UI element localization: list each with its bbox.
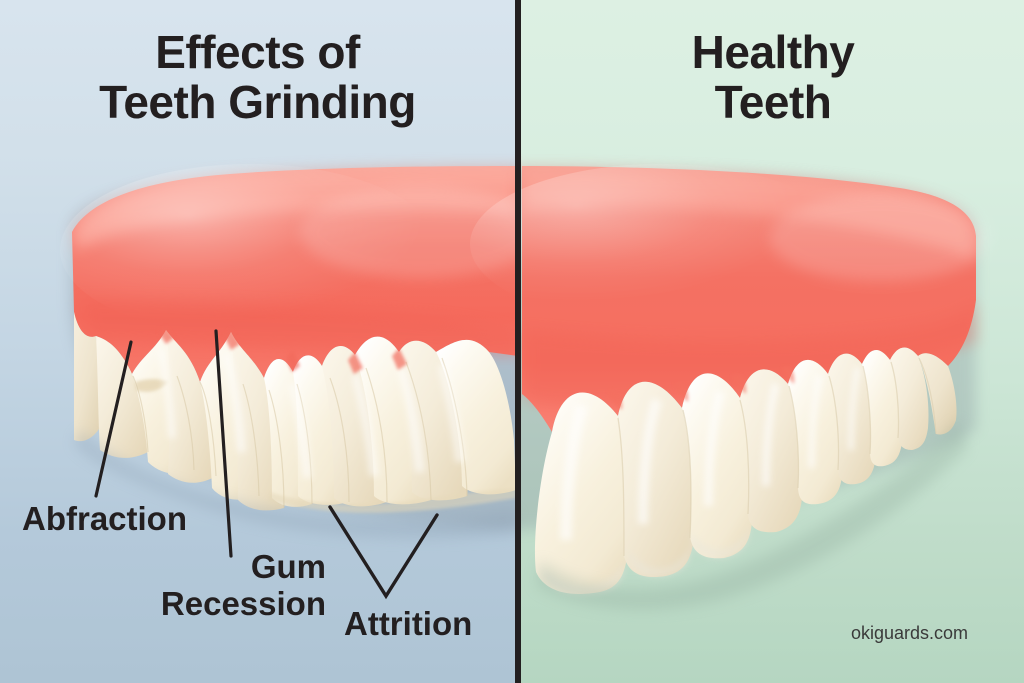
- panel-divider: [515, 0, 521, 683]
- right-arch-group: [470, 164, 990, 595]
- illustration-canvas: Effects of Teeth Grinding Healthy Teeth …: [0, 0, 1024, 683]
- right-panel-title: Healthy Teeth: [522, 27, 1024, 127]
- left-panel-title: Effects of Teeth Grinding: [0, 27, 515, 127]
- callout-label-gum-recession: Gum Recession: [18, 548, 326, 622]
- left-arch-group: [60, 164, 540, 513]
- callout-label-abfraction: Abfraction: [22, 500, 187, 537]
- watermark-text: okiguards.com: [851, 623, 968, 644]
- callout-label-attrition: Attrition: [344, 605, 472, 642]
- right-gum-sheen-2: [770, 194, 990, 282]
